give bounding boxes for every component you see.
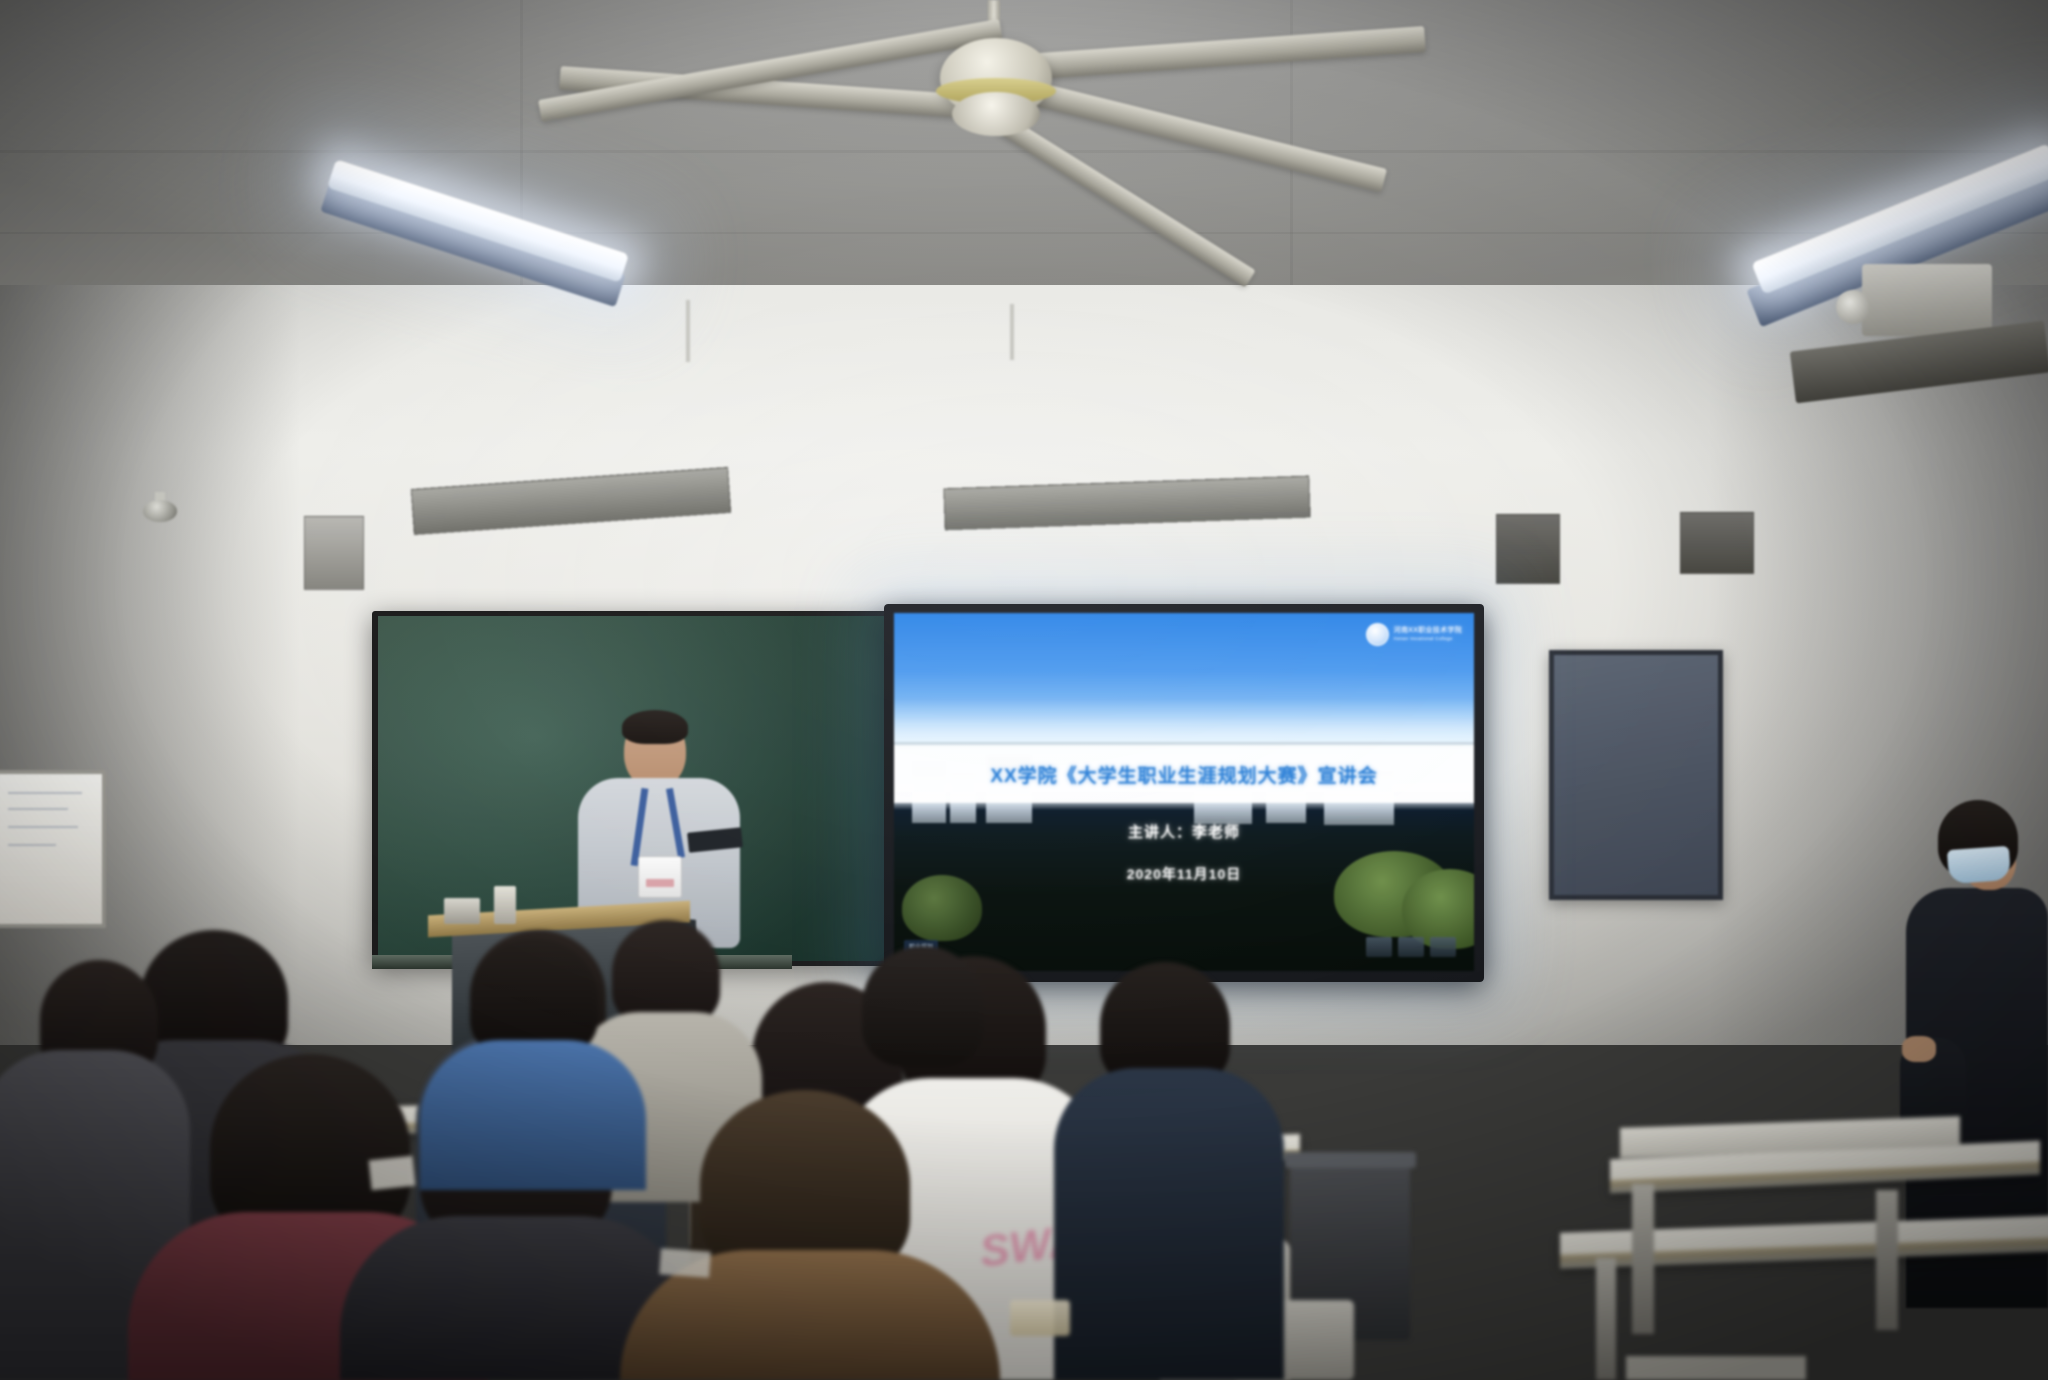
- slide-footer-logos: [1366, 937, 1456, 957]
- projector-body: [1862, 264, 1992, 336]
- wall-left-shadow: [0, 285, 300, 1045]
- hanger-rod: [1010, 304, 1014, 360]
- whiteboard-mark: [8, 826, 78, 828]
- bin-lid: [1284, 1152, 1416, 1168]
- ledge-bottle: [494, 886, 516, 924]
- face-mask-icon: [1947, 846, 2011, 884]
- projector-lens: [1836, 290, 1870, 324]
- school-emblem-icon: [1366, 623, 1389, 646]
- wall-speaker-right: [1496, 514, 1560, 584]
- chair-back: [1626, 1356, 1806, 1380]
- slide-date-line: 2020年11月10日: [894, 864, 1474, 884]
- slide-logo-subtitle: Henan Vocational College: [1394, 636, 1462, 642]
- footer-logo: [1398, 937, 1424, 957]
- presenter-id-badge: [638, 856, 682, 898]
- hanger-rod: [686, 300, 690, 362]
- desk-item: [1010, 1300, 1070, 1336]
- wall-notice-board: [1549, 650, 1723, 900]
- fan-light-cap: [952, 92, 1040, 136]
- whiteboard-mark: [8, 792, 82, 794]
- wall-speaker-far-right: [1680, 512, 1754, 574]
- student-body-blue: [420, 1040, 646, 1190]
- desk-leg: [1876, 1190, 1898, 1330]
- slide-presenter-line: 主讲人：李老师: [894, 821, 1474, 842]
- slide-title-band: XX学院《大学生职业生涯规划大赛》宣讲会: [894, 745, 1474, 802]
- whiteboard-mark: [8, 808, 68, 810]
- slide-logo-title: 河南XX职业技术学院: [1394, 627, 1462, 634]
- wall-speaker-left: [304, 516, 364, 590]
- camera-dome: [143, 500, 177, 522]
- person-hand: [1902, 1036, 1936, 1062]
- presenter-hair: [622, 710, 688, 744]
- footer-logo: [1430, 937, 1456, 957]
- footer-logo: [1366, 937, 1392, 957]
- presentation-screen[interactable]: 河南XX职业技术学院 Henan Vocational College XX学院…: [894, 613, 1474, 971]
- side-whiteboard: [0, 770, 106, 928]
- slide-title: XX学院《大学生职业生涯规划大赛》宣讲会: [990, 761, 1377, 788]
- desk-leg: [1596, 1258, 1616, 1380]
- student-body: [1054, 1068, 1284, 1380]
- slide-logo: 河南XX职业技术学院 Henan Vocational College: [1366, 623, 1462, 646]
- paper-sheet: [659, 1248, 711, 1277]
- ledge-box: [444, 898, 480, 924]
- student-head: [612, 920, 720, 1026]
- classroom-scene: 河南XX职业技术学院 Henan Vocational College XX学院…: [0, 0, 2048, 1380]
- paper-sheet: [369, 1156, 416, 1190]
- desk-leg: [1632, 1184, 1654, 1334]
- whiteboard-mark: [8, 844, 56, 846]
- student-head: [862, 946, 984, 1066]
- campus-tree: [902, 875, 982, 941]
